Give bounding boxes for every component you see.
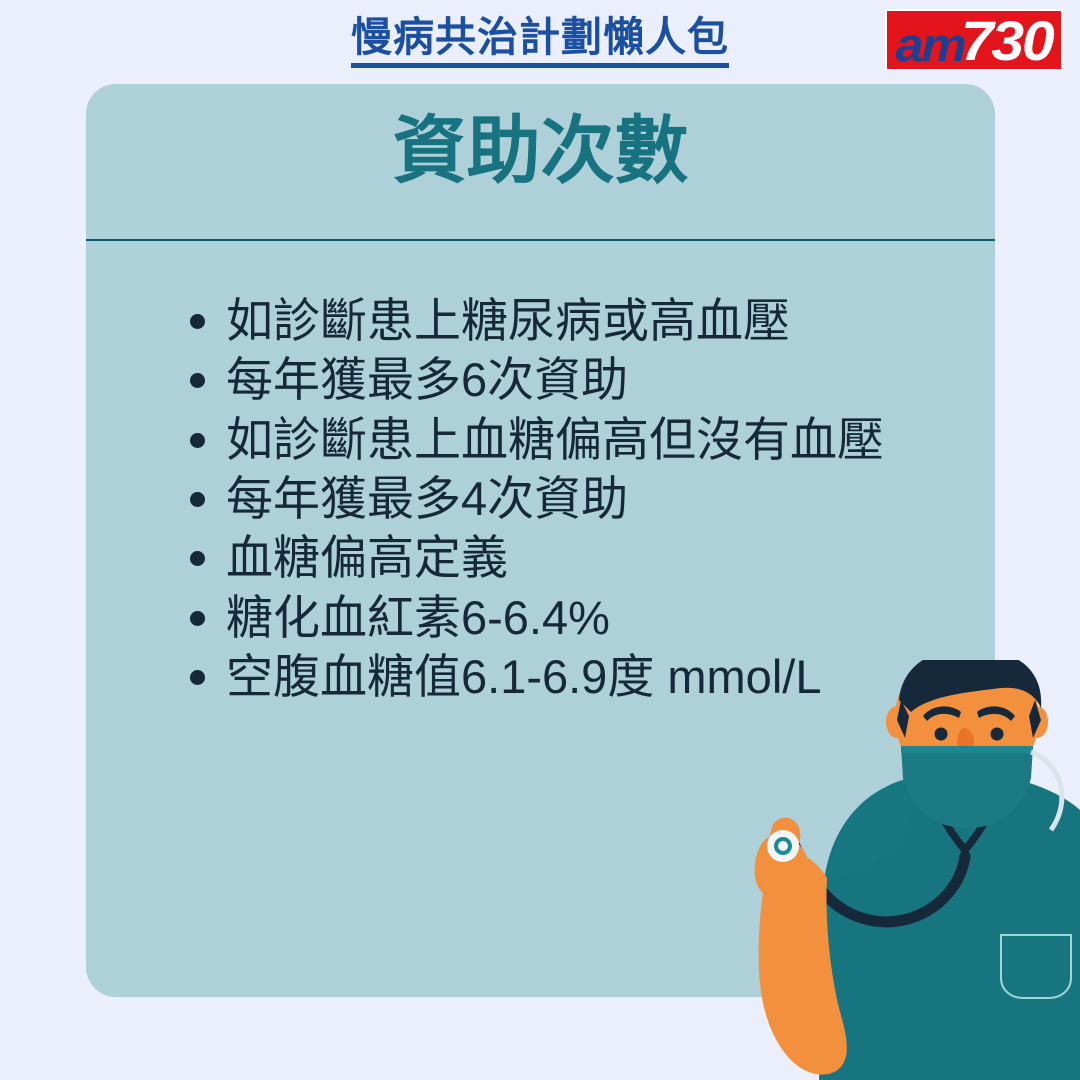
list-item-label: 糖化血紅素6-6.4% (226, 591, 610, 644)
info-card: 資助次數 如診斷患上糖尿病或高血壓 每年獲最多6次資助 如診斷患上血糖偏高但沒有… (86, 84, 995, 997)
page-title-text: 慢病共治計劃懶人包 (351, 14, 729, 68)
list-item: 如診斷患上血糖偏高但沒有血壓 (186, 411, 976, 468)
bullet-dot-icon (190, 670, 205, 685)
ear-right (1026, 706, 1048, 738)
list-item: 空腹血糖值6.1-6.9度 mmol/L (186, 648, 976, 705)
card-divider (86, 239, 995, 241)
card-heading: 資助次數 (86, 110, 995, 191)
bullet-dot-icon (190, 611, 205, 626)
sideburn-right (1029, 700, 1041, 738)
list-item-label: 空腹血糖值6.1-6.9度 mmol/L (226, 650, 821, 703)
list-item: 如診斷患上糖尿病或高血壓 (186, 292, 976, 349)
bullet-dot-icon (190, 433, 205, 448)
list-item-label: 如診斷患上糖尿病或高血壓 (226, 294, 790, 347)
top-bar: 慢病共治計劃懶人包 am 730 (0, 0, 1080, 84)
list-item: 每年獲最多6次資助 (186, 351, 976, 408)
am730-logo: am 730 (885, 9, 1063, 71)
list-item-label: 血糖偏高定義 (226, 531, 508, 584)
scrubs-pocket (1001, 935, 1071, 998)
mask-strap (1031, 752, 1062, 830)
list-item: 糖化血紅素6-6.4% (186, 589, 976, 646)
list-item: 每年獲最多4次資助 (186, 470, 976, 527)
bullet-list: 如診斷患上糖尿病或高血壓 每年獲最多6次資助 如診斷患上血糖偏高但沒有血壓 每年… (186, 292, 976, 707)
bullet-dot-icon (190, 551, 205, 566)
list-item-label: 每年獲最多4次資助 (226, 472, 628, 525)
bullet-dot-icon (190, 314, 205, 329)
list-item: 血糖偏高定義 (186, 529, 976, 586)
logo-am-text: am (895, 24, 964, 66)
bullet-dot-icon (190, 492, 205, 507)
bullet-dot-icon (190, 373, 205, 388)
list-item-label: 如診斷患上血糖偏高但沒有血壓 (226, 413, 884, 466)
logo-730-text: 730 (961, 16, 1053, 66)
list-item-label: 每年獲最多6次資助 (226, 353, 628, 406)
